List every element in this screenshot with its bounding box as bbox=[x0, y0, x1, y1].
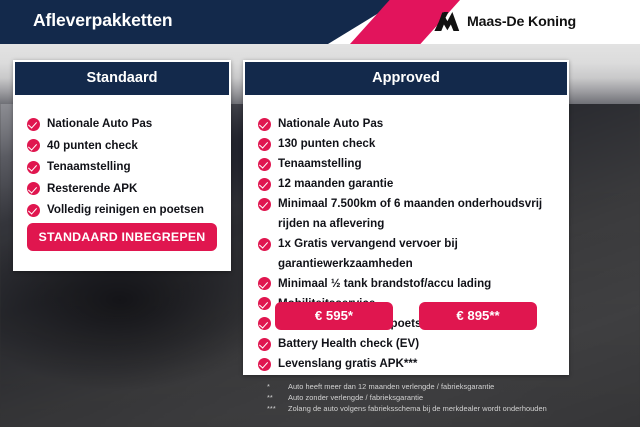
maas-de-koning-m-logo-icon bbox=[434, 11, 460, 32]
feature-item: Battery Health check (EV) bbox=[258, 334, 569, 354]
footnote-text: Auto heeft meer dan 12 maanden verlengde… bbox=[288, 381, 607, 392]
check-circle-icon bbox=[258, 338, 271, 351]
footnote-marker: ** bbox=[267, 392, 288, 403]
feature-label: Nationale Auto Pas bbox=[278, 114, 383, 134]
brand-lockup: Maas-De Koning bbox=[434, 11, 576, 32]
feature-label: 40 punten check bbox=[47, 136, 138, 156]
feature-label: Tenaamstelling bbox=[278, 154, 362, 174]
feature-item: 130 punten check bbox=[258, 134, 569, 154]
brand-name: Maas-De Koning bbox=[467, 14, 576, 30]
page-title: Afleverpakketten bbox=[33, 10, 172, 31]
check-circle-icon bbox=[27, 139, 40, 152]
feature-item: Volledig reinigen en poetsen bbox=[27, 200, 231, 220]
feature-label: 1x Gratis vervangend vervoer bij garanti… bbox=[278, 234, 569, 273]
feature-label: 12 maanden garantie bbox=[278, 174, 393, 194]
page-header: Afleverpakketten Maas-De Koning bbox=[0, 0, 640, 44]
footnote-row: *Auto heeft meer dan 12 maanden verlengd… bbox=[267, 381, 607, 392]
check-circle-icon bbox=[27, 118, 40, 131]
card-title-approved: Approved bbox=[245, 62, 567, 95]
package-card-approved: Approved Nationale Auto Pas130 punten ch… bbox=[243, 60, 569, 375]
feature-label: Tenaamstelling bbox=[47, 157, 131, 177]
feature-item: 40 punten check bbox=[27, 136, 231, 156]
package-card-standaard: Standaard Nationale Auto Pas40 punten ch… bbox=[13, 60, 231, 271]
check-circle-icon bbox=[258, 138, 271, 151]
footnote-text: Zolang de auto volgens fabrieksschema bi… bbox=[288, 403, 607, 414]
feature-label: Battery Health check (EV) bbox=[278, 334, 419, 354]
screenshot-root: Afleverpakketten Maas-De Koning Standaar… bbox=[0, 0, 640, 427]
footnote-row: **Auto zonder verlengde / fabrieksgarant… bbox=[267, 392, 607, 403]
check-circle-icon bbox=[258, 277, 271, 290]
feature-label: Minimaal 7.500km of 6 maanden onderhouds… bbox=[278, 194, 542, 233]
feature-label: Levenslang gratis APK*** bbox=[278, 354, 417, 374]
footnote-text: Auto zonder verlengde / fabrieksgarantie bbox=[288, 392, 607, 403]
feature-item: Nationale Auto Pas bbox=[258, 114, 569, 134]
check-circle-icon bbox=[27, 182, 40, 195]
check-circle-icon bbox=[27, 204, 40, 217]
feature-item: Minimaal ½ tank brandstof/accu lading bbox=[258, 274, 569, 294]
card-body-standaard: Nationale Auto Pas40 punten checkTenaams… bbox=[13, 95, 231, 220]
card-body-approved: Nationale Auto Pas130 punten checkTenaam… bbox=[243, 95, 569, 374]
standaard-included-button[interactable]: STANDAARD INBEGREPEN bbox=[27, 223, 217, 251]
feature-item: Levenslang gratis APK*** bbox=[258, 354, 569, 374]
check-circle-icon bbox=[258, 358, 271, 371]
feature-label: Volledig reinigen en poetsen bbox=[47, 200, 204, 220]
price-button-row: € 595*€ 895** bbox=[243, 302, 569, 330]
footnote-marker: *** bbox=[267, 403, 288, 414]
feature-item: Tenaamstelling bbox=[258, 154, 569, 174]
feature-item: 1x Gratis vervangend vervoer bij garanti… bbox=[258, 234, 569, 273]
footnotes-block: *Auto heeft meer dan 12 maanden verlengd… bbox=[267, 381, 607, 414]
feature-label: Nationale Auto Pas bbox=[47, 114, 152, 134]
price-button-2[interactable]: € 895** bbox=[419, 302, 537, 330]
check-circle-icon bbox=[27, 161, 40, 174]
check-circle-icon bbox=[258, 198, 271, 211]
feature-item: 12 maanden garantie bbox=[258, 174, 569, 194]
check-circle-icon bbox=[258, 118, 271, 131]
feature-label-line2: rijden na aflevering bbox=[278, 214, 542, 234]
feature-label: Minimaal ½ tank brandstof/accu lading bbox=[278, 274, 491, 294]
feature-item: Tenaamstelling bbox=[27, 157, 231, 177]
check-circle-icon bbox=[258, 178, 271, 191]
check-circle-icon bbox=[258, 238, 271, 251]
footnote-row: ***Zolang de auto volgens fabrieksschema… bbox=[267, 403, 607, 414]
feature-label: Resterende APK bbox=[47, 179, 137, 199]
feature-list-approved: Nationale Auto Pas130 punten checkTenaam… bbox=[258, 114, 569, 374]
feature-item: Resterende APK bbox=[27, 179, 231, 199]
card-title-standaard: Standaard bbox=[15, 62, 229, 95]
price-button-1[interactable]: € 595* bbox=[275, 302, 393, 330]
feature-list-standaard: Nationale Auto Pas40 punten checkTenaams… bbox=[27, 114, 231, 220]
feature-item: Minimaal 7.500km of 6 maanden onderhouds… bbox=[258, 194, 569, 233]
check-circle-icon bbox=[258, 158, 271, 171]
footnote-marker: * bbox=[267, 381, 288, 392]
feature-label: 130 punten check bbox=[278, 134, 375, 154]
feature-item: Nationale Auto Pas bbox=[27, 114, 231, 134]
